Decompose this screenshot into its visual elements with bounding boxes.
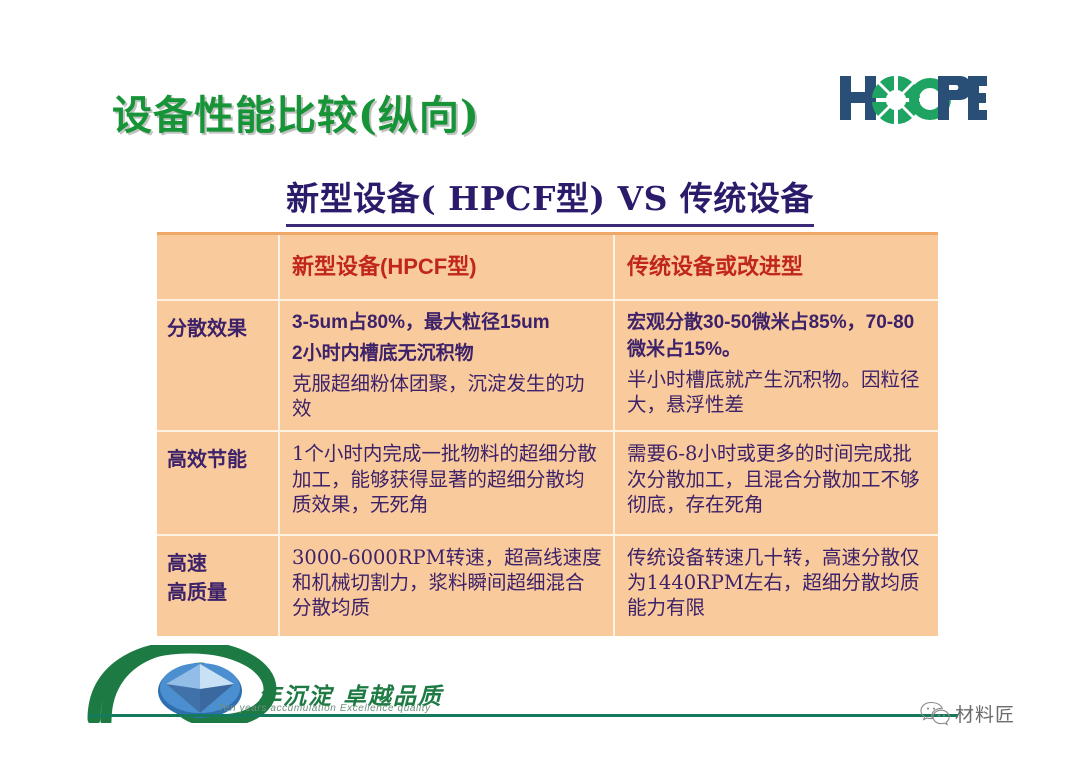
cell-body: 需要6-8小时或更多的时间完成批次分散加工，且混合分散加工不够彻底，存在死角 [627, 441, 928, 517]
cell-new-equipment-efficiency: 1个小时内完成一批物料的超细分散加工，能够获得显著的超细分散均质效果，无死角 [278, 432, 613, 533]
cell-body: 3000-6000RPM转速，超高线速度和机械切割力，浆料瞬间超细混合分散均质 [292, 545, 603, 621]
cell-paragraph: 需要6-8小时或更多的时间完成批次分散加工，且混合分散加工不够彻底，存在死角 [627, 441, 928, 517]
row-label-cell: 高效节能 [157, 432, 278, 533]
cell-traditional-speed: 传统设备转速几十转，高速分散仅为1440RPM左右，超细分散均质能力有限 [613, 536, 938, 636]
header-cell-blank [157, 235, 278, 299]
watermark-text: 材料匠 [955, 700, 1015, 727]
cell-paragraph: 克服超细粉体团聚，沉淀发生的功效 [292, 371, 603, 422]
hope-logo [838, 72, 988, 128]
table-row: 分散效果 3-5um占80%，最大粒径15um 2小时内槽底无沉积物 克服超细粉… [157, 299, 938, 430]
cell-paragraph: 3-5um占80%，最大粒径15um [292, 310, 603, 336]
subtitle-container: 新型设备( HPCF型) VS 传统设备 [240, 172, 860, 227]
anniversary-slogan-en: Ten years accumulation Excellence qualit… [218, 703, 431, 714]
table-header-row: 新型设备(HPCF型) 传统设备或改进型 [157, 235, 938, 299]
header-traditional-label: 传统设备或改进型 [627, 255, 803, 279]
cell-body: 1个小时内完成一批物料的超细分散加工，能够获得显著的超细分散均质效果，无死角 [292, 441, 603, 517]
cell-body: 传统设备转速几十转，高速分散仅为1440RPM左右，超细分散均质能力有限 [627, 545, 928, 621]
cell-paragraph: 1个小时内完成一批物料的超细分散加工，能够获得显著的超细分散均质效果，无死角 [292, 441, 603, 517]
cell-paragraph: 半小时槽底就产生沉积物。因粒径大，悬浮性差 [627, 367, 928, 418]
slide-canvas: 设备性能比较(纵向) [0, 0, 1080, 764]
cell-body: 3-5um占80%，最大粒径15um 2小时内槽底无沉积物 克服超细粉体团聚，沉… [292, 310, 603, 421]
cell-paragraph: 3000-6000RPM转速，超高线速度和机械切割力，浆料瞬间超细混合分散均质 [292, 545, 603, 621]
table-row: 高效节能 1个小时内完成一批物料的超细分散加工，能够获得显著的超细分散均质效果，… [157, 430, 938, 533]
cell-traditional-efficiency: 需要6-8小时或更多的时间完成批次分散加工，且混合分散加工不够彻底，存在死角 [613, 432, 938, 533]
cell-paragraph: 传统设备转速几十转，高速分散仅为1440RPM左右，超细分散均质能力有限 [627, 545, 928, 621]
cell-paragraph: 宏观分散30-50微米占85%，70-80微米占15%。 [627, 310, 928, 362]
cell-paragraph: 2小时内槽底无沉积物 [292, 341, 603, 367]
page-title: 设备性能比较(纵向) [112, 83, 480, 141]
row-label-speed: 高速 高质量 [167, 545, 268, 607]
row-label-dispersion: 分散效果 [167, 310, 268, 343]
header-cell-traditional: 传统设备或改进型 [613, 235, 938, 299]
watermark: 材料匠 [920, 700, 1015, 727]
comparison-table: 新型设备(HPCF型) 传统设备或改进型 分散效果 3-5um占80%，最大粒径… [157, 232, 938, 636]
cell-new-equipment-speed: 3000-6000RPM转速，超高线速度和机械切割力，浆料瞬间超细混合分散均质 [278, 536, 613, 636]
cell-body: 宏观分散30-50微米占85%，70-80微米占15%。 半小时槽底就产生沉积物… [627, 310, 928, 417]
cell-new-equipment-dispersion: 3-5um占80%，最大粒径15um 2小时内槽底无沉积物 克服超细粉体团聚，沉… [278, 301, 613, 430]
row-label-cell: 分散效果 [157, 301, 278, 430]
header-cell-new-equipment: 新型设备(HPCF型) [278, 235, 613, 299]
row-label-cell: 高速 高质量 [157, 536, 278, 636]
table-row: 高速 高质量 3000-6000RPM转速，超高线速度和机械切割力，浆料瞬间超细… [157, 534, 938, 636]
slide-subtitle: 新型设备( HPCF型) VS 传统设备 [286, 172, 814, 227]
cell-traditional-dispersion: 宏观分散30-50微米占85%，70-80微米占15%。 半小时槽底就产生沉积物… [613, 301, 938, 430]
row-label-efficiency: 高效节能 [167, 441, 268, 474]
footer-divider [88, 714, 958, 717]
header-new-equipment-label: 新型设备(HPCF型) [292, 255, 477, 279]
wechat-icon [920, 701, 950, 727]
